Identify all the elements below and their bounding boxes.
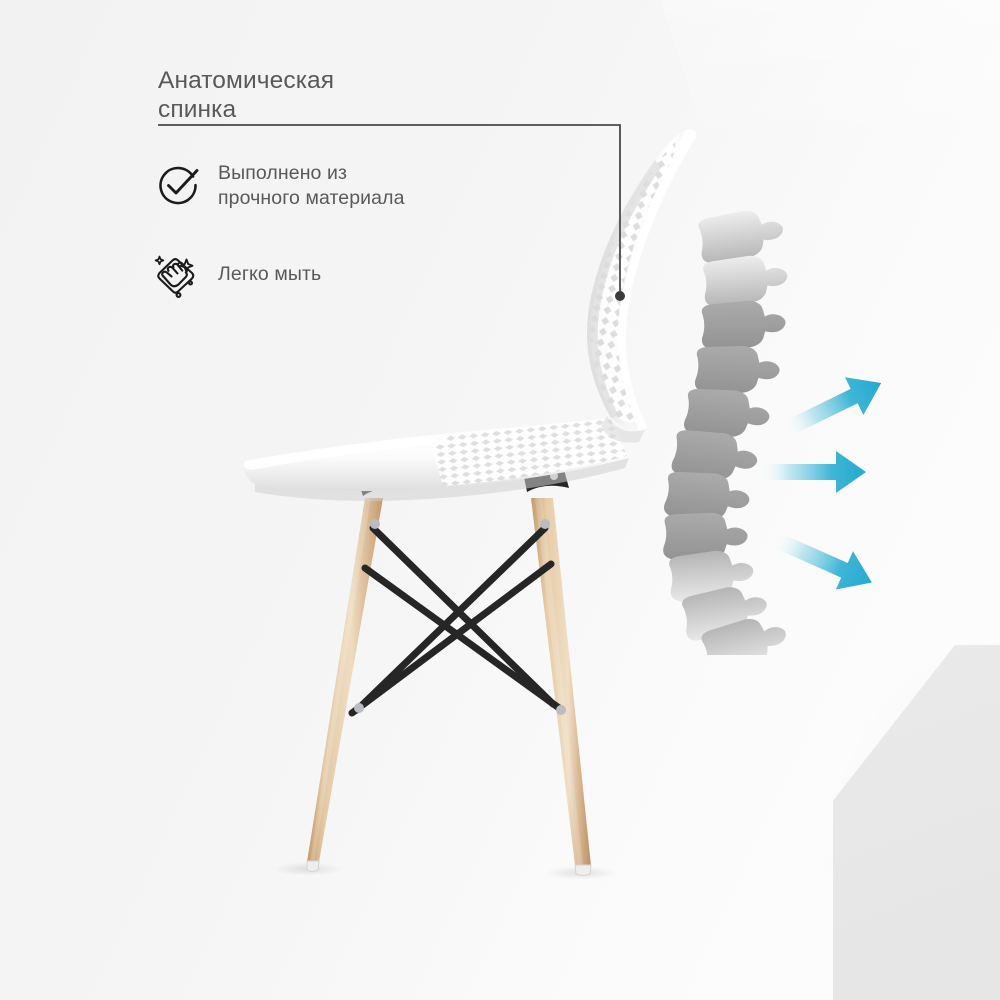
check-circle-icon	[152, 160, 204, 212]
strut-d	[352, 564, 551, 713]
chair-seat-perforation	[429, 419, 627, 486]
feature-label-material: Выполнено из прочного материала	[218, 161, 405, 211]
chair-illustration	[215, 120, 715, 895]
arrow-lower	[765, 519, 881, 601]
spine-and-arrows	[655, 205, 905, 655]
chair-glide-rear	[575, 865, 591, 876]
wiping-hand-sparkle-icon	[152, 248, 204, 300]
chair-glide-front	[307, 861, 319, 872]
feature-item-material: Выполнено из прочного материала	[152, 160, 405, 212]
feature-item-clean: Легко мыть	[152, 248, 321, 300]
spine-vertebrae	[663, 206, 792, 655]
strut-c	[365, 568, 559, 708]
strut-b	[357, 528, 545, 710]
infographic-canvas: Анатомическая спинка Выполнено из прочно…	[0, 0, 1000, 1000]
chair-legs	[307, 498, 591, 876]
pressure-arrows	[758, 364, 890, 602]
chair-cross-struts	[352, 528, 559, 713]
arrow-middle	[758, 451, 866, 493]
page-title: Анатомическая спинка	[158, 66, 518, 124]
feature-label-clean: Легко мыть	[218, 262, 321, 287]
arrow-upper	[775, 364, 890, 449]
chair-seat	[244, 418, 629, 501]
